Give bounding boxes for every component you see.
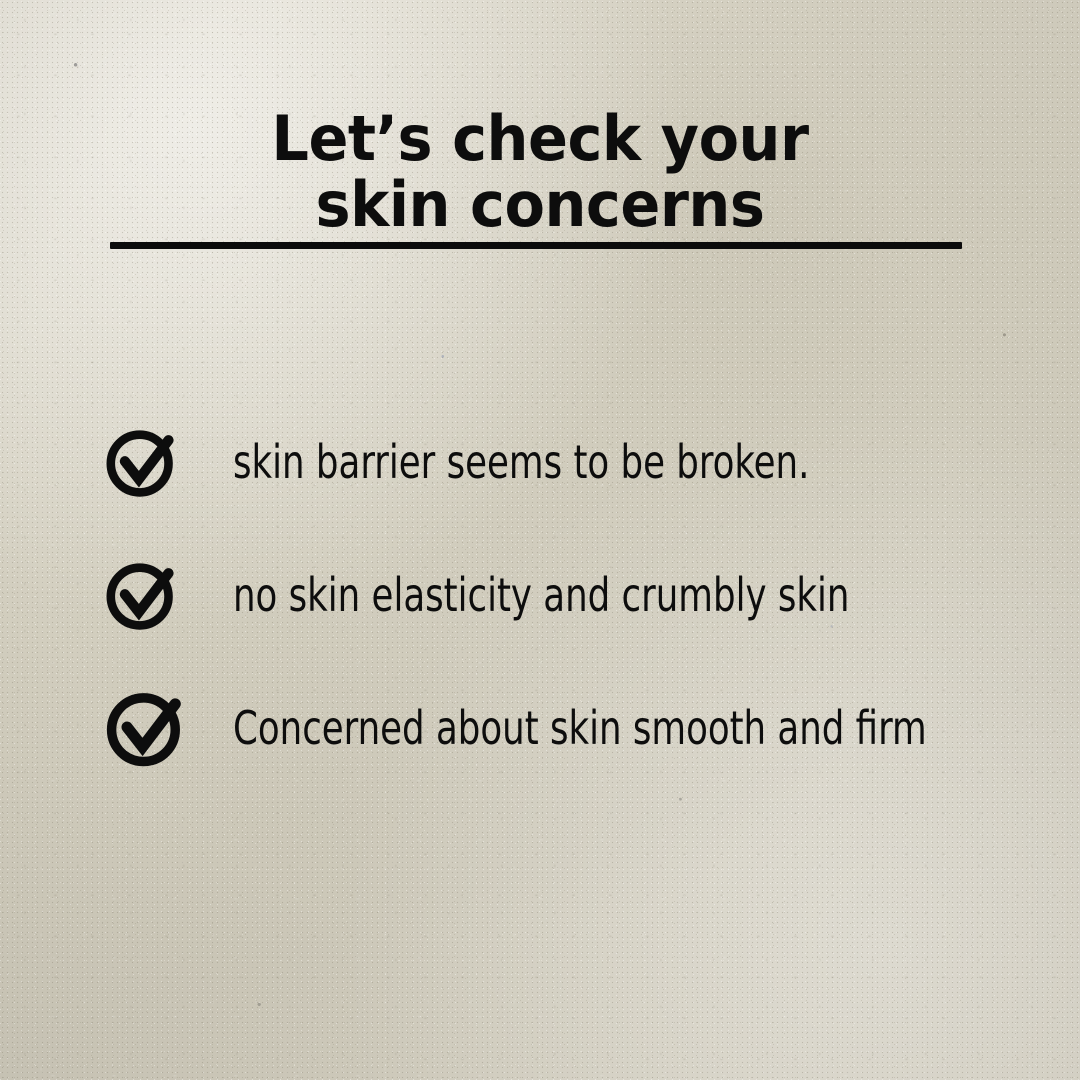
page-title-line-1: Let’s check your — [27, 106, 1053, 173]
list-item-label: no skin elasticity and crumbly skin — [233, 572, 849, 618]
list-item-label: skin barrier seems to be broken. — [233, 439, 809, 485]
page-title-line-2: skin concerns — [27, 172, 1053, 239]
check-circle-icon — [103, 685, 189, 771]
list-item: Concerned about skin smooth and firm — [0, 678, 1080, 778]
check-circle-icon — [103, 423, 181, 501]
poster-content: Let’s check your skin concerns skin barr… — [0, 0, 1080, 1080]
list-item: no skin elasticity and crumbly skin — [0, 545, 1080, 645]
concerns-list: skin barrier seems to be broken. no skin… — [0, 412, 1080, 811]
list-item-label: Concerned about skin smooth and firm — [233, 705, 927, 751]
title-divider — [110, 242, 962, 249]
check-circle-icon — [103, 556, 181, 634]
poster-canvas: Let’s check your skin concerns skin barr… — [0, 0, 1080, 1080]
page-title: Let’s check your skin concerns — [27, 106, 1053, 240]
list-item: skin barrier seems to be broken. — [0, 412, 1080, 512]
